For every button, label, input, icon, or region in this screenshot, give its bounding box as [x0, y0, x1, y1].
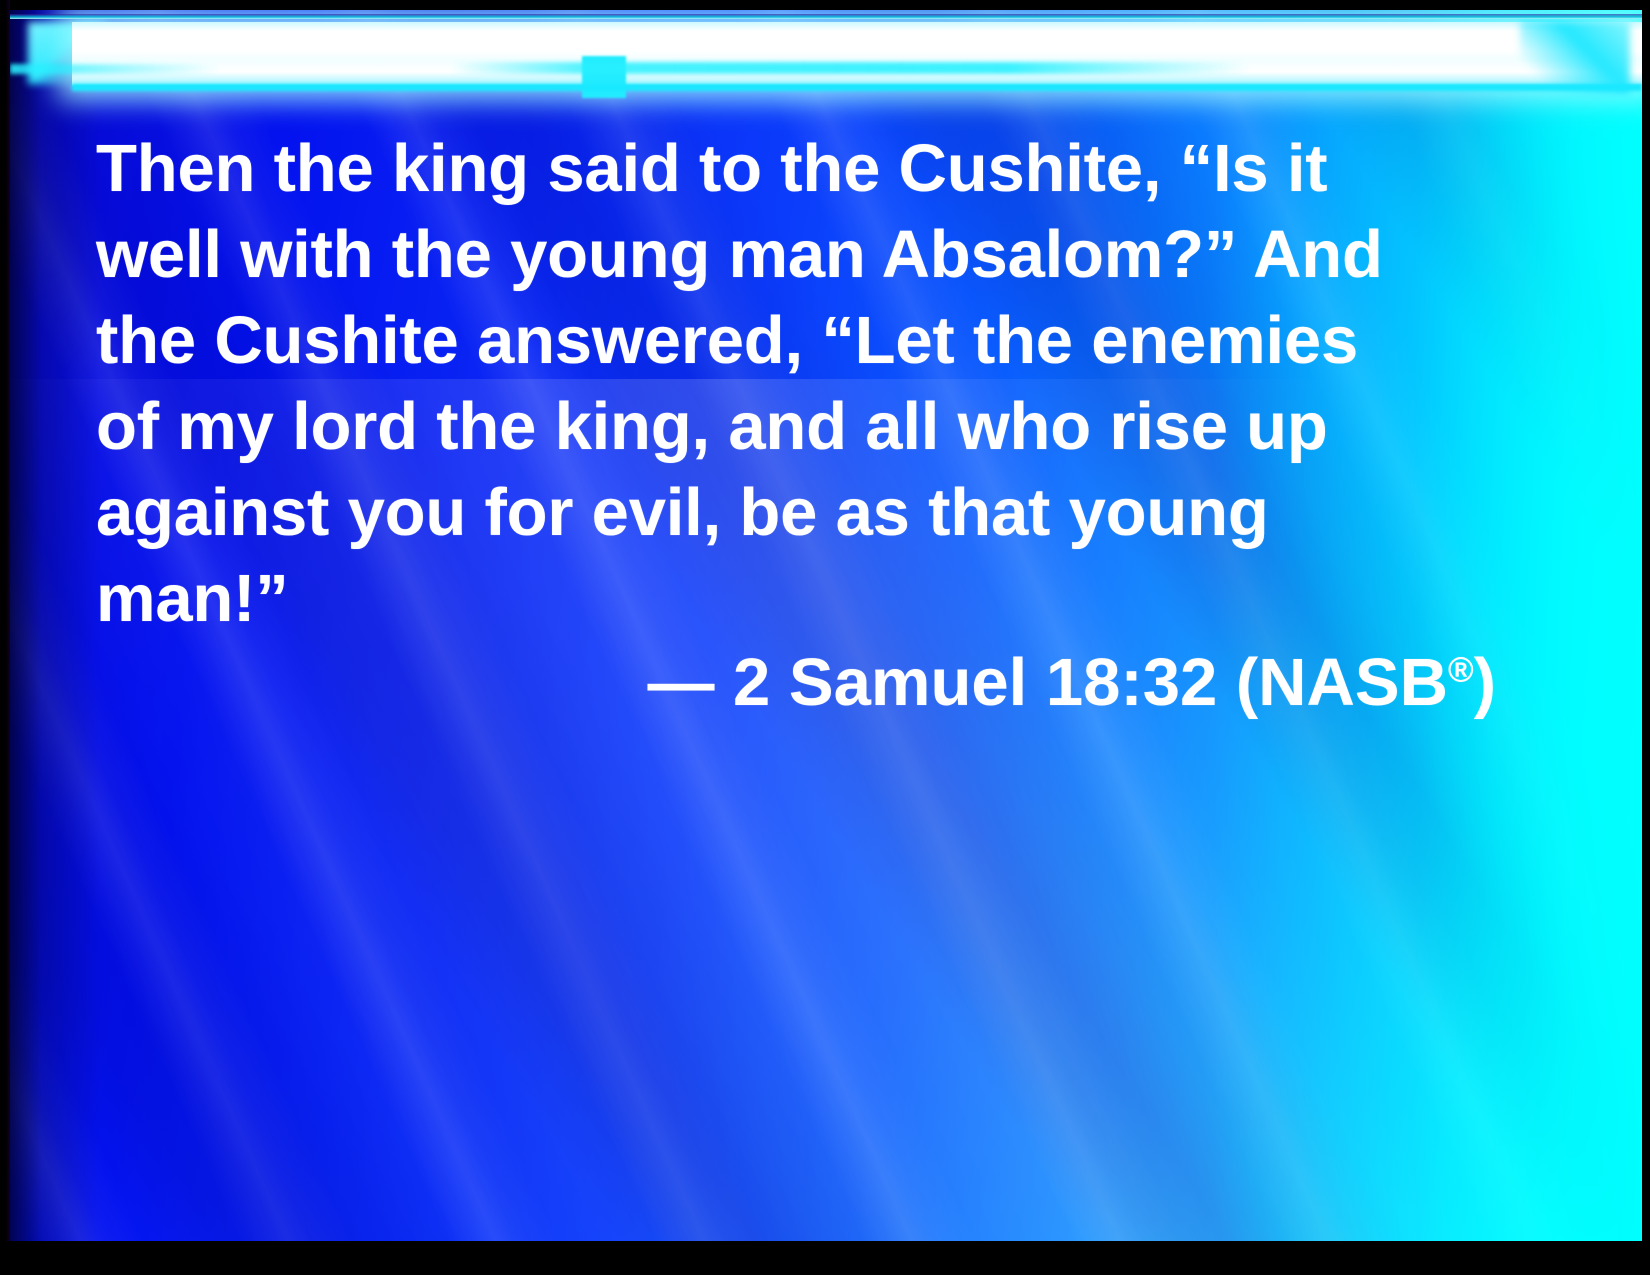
slide-frame: Then the king said to the Cushite, “Is i… — [0, 0, 1650, 1275]
frame-right-bar — [1642, 0, 1650, 1275]
verse-text-block: Then the king said to the Cushite, “Is i… — [96, 126, 1446, 642]
top-glow-right-wedge — [1520, 20, 1630, 94]
top-glow-banner — [10, 10, 1642, 96]
frame-top-bar — [0, 0, 1650, 7]
background-left-vignette — [10, 10, 100, 1241]
citation-prefix: — 2 Samuel 18:32 (NASB — [647, 645, 1448, 720]
frame-left-bar — [0, 0, 10, 1275]
top-glow-wisp-right — [450, 62, 1250, 74]
top-glow-underline — [72, 84, 1642, 91]
top-glow-wisp-left — [10, 64, 220, 74]
top-glow-core — [72, 22, 1642, 86]
registered-trademark-icon: ® — [1448, 651, 1474, 690]
verse-line-5: against you for evil, be as that young — [96, 470, 1446, 556]
verse-line-4: of my lord the king, and all who rise up — [96, 384, 1446, 470]
verse-line-1: Then the king said to the Cushite, “Is i… — [96, 126, 1446, 212]
frame-bottom-bar — [0, 1241, 1650, 1275]
verse-line-6: man!” — [96, 556, 1446, 642]
slide-canvas: Then the king said to the Cushite, “Is i… — [10, 10, 1642, 1241]
verse-citation: — 2 Samuel 18:32 (NASB®) — [96, 640, 1496, 726]
citation-suffix: ) — [1474, 645, 1496, 720]
top-hairline — [10, 14, 1642, 19]
verse-line-3: the Cushite answered, “Let the enemies — [96, 298, 1446, 384]
verse-line-2: well with the young man Absalom?” And — [96, 212, 1446, 298]
